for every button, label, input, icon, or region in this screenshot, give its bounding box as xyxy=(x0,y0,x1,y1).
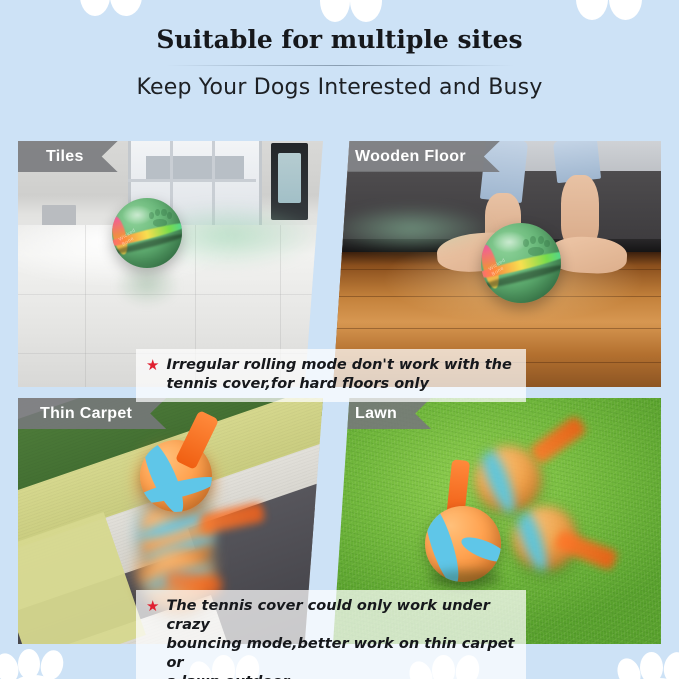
caption-text: Irregular rolling mode don't work with t… xyxy=(166,356,511,394)
star-icon: ★ xyxy=(146,597,159,616)
badge-thin-carpet: Thin Carpet xyxy=(18,398,166,429)
badge-label: Thin Carpet xyxy=(40,405,132,423)
page-subtitle: Keep Your Dogs Interested and Busy xyxy=(0,73,679,103)
green-led-ball: Wicked Bone xyxy=(481,223,561,303)
caption-text: The tennis cover could only work under c… xyxy=(166,597,516,679)
header: Suitable for multiple sites Keep Your Do… xyxy=(0,24,679,103)
paw-print-icon xyxy=(0,649,74,679)
paw-print-icon xyxy=(576,0,648,24)
badge-label: Wooden Floor xyxy=(355,148,466,166)
page-title: Suitable for multiple sites xyxy=(0,24,679,56)
ball-reflection xyxy=(114,263,180,307)
paw-print-icon xyxy=(80,0,146,22)
ball-stripe xyxy=(459,532,501,566)
tennis-cover-ball-blur xyxy=(475,446,541,512)
badge-label: Tiles xyxy=(46,148,84,166)
paw-print-icon xyxy=(320,0,386,26)
tile-seam xyxy=(85,225,86,387)
promo-page: Suitable for multiple sites Keep Your Do… xyxy=(0,0,679,679)
badge-label: Lawn xyxy=(355,405,397,423)
caption-tennis-cover-note: ★ The tennis cover could only work under… xyxy=(136,590,526,679)
title-divider xyxy=(166,65,514,66)
star-icon: ★ xyxy=(146,356,159,375)
paw-print-icon xyxy=(618,652,679,679)
green-led-ball: Wicked Bone xyxy=(112,198,182,268)
badge-wooden-floor: Wooden Floor xyxy=(333,141,500,172)
ball-shadow xyxy=(429,570,501,588)
caption-hard-floor-note: ★ Irregular rolling mode don't work with… xyxy=(136,349,526,402)
motion-blur-trail xyxy=(333,205,495,253)
